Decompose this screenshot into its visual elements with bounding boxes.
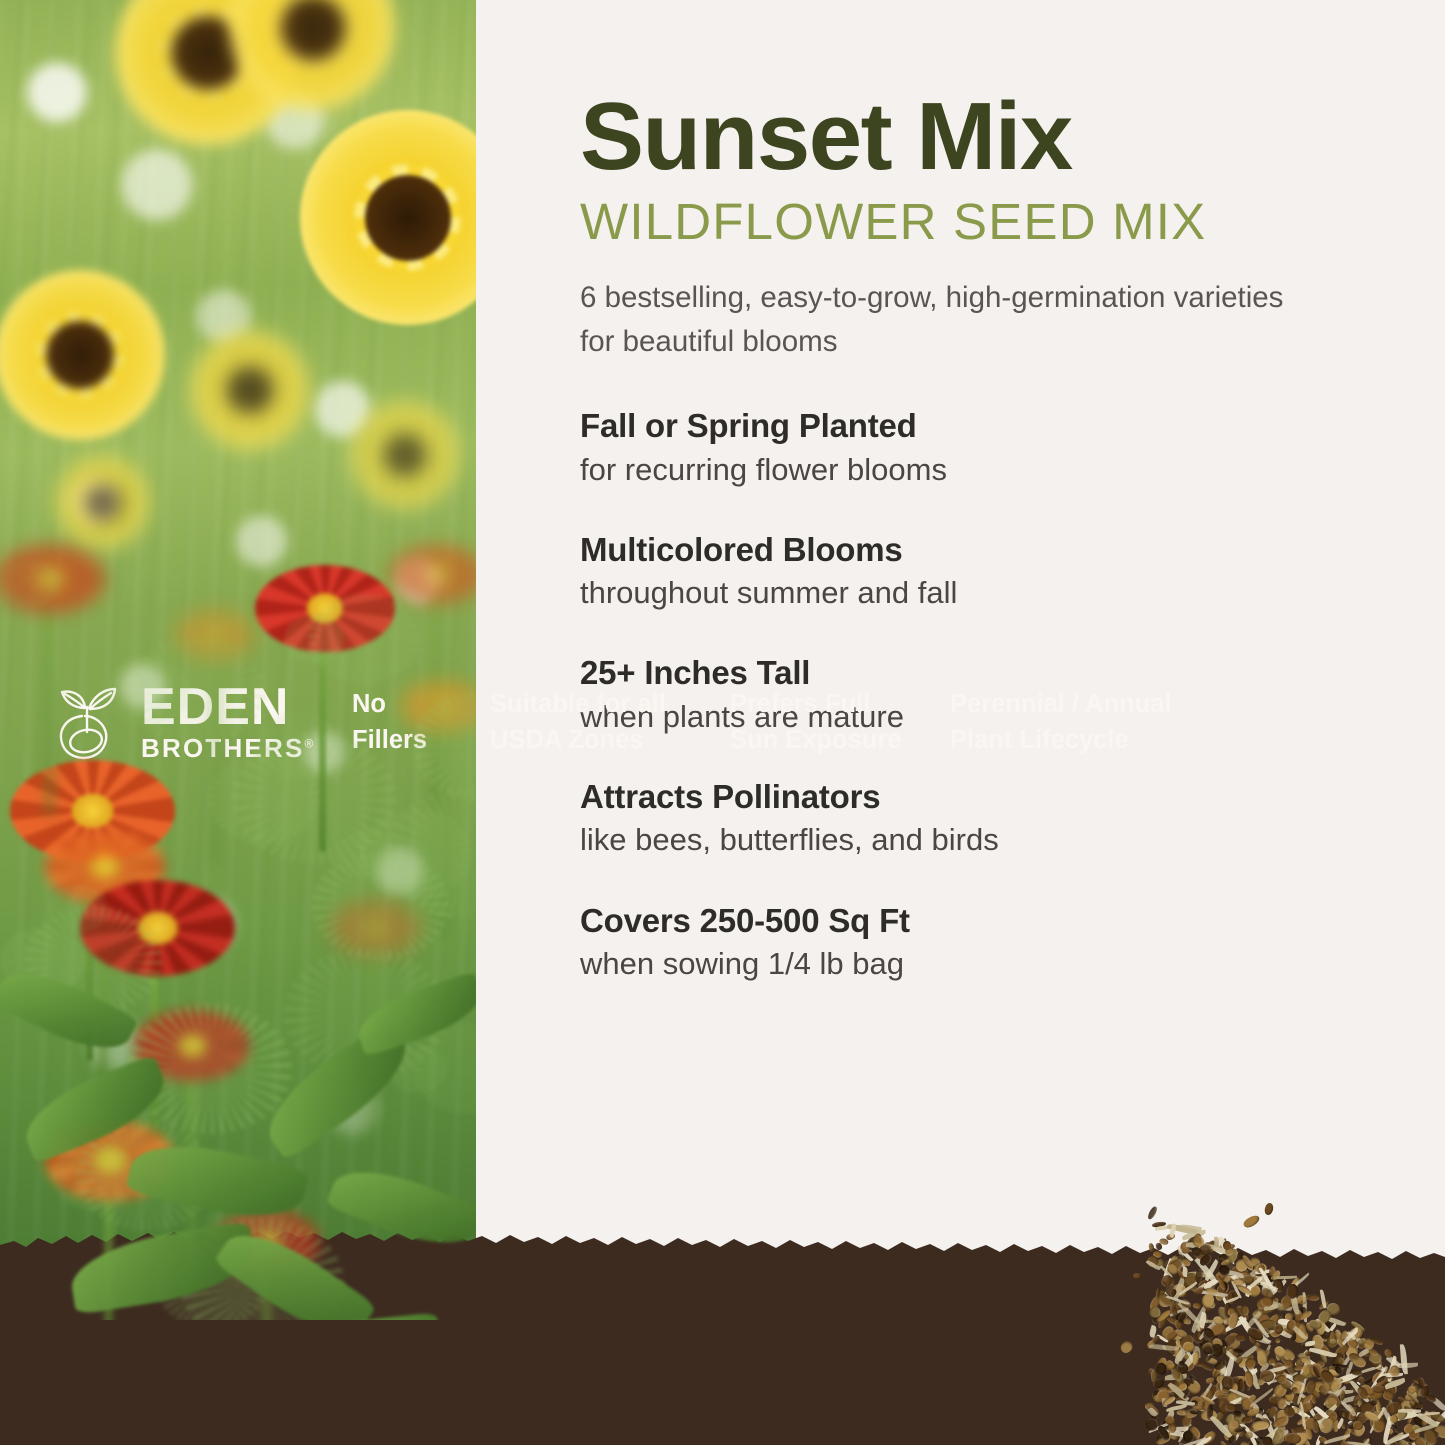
footer-badge-line1: Prefers Full xyxy=(730,687,950,722)
seed-grain xyxy=(1242,1415,1253,1423)
footer-badges: NoFillersSuitable for allUSDA ZonesPrefe… xyxy=(352,687,1210,757)
product-info-card: Sunset Mix WILDFLOWER SEED MIX 6 bestsel… xyxy=(0,0,1445,1445)
footer-badge: Prefers FullSun Exposure xyxy=(730,687,950,757)
seed-grain xyxy=(1274,1337,1281,1344)
seed-grain xyxy=(1192,1303,1200,1309)
seed-grain xyxy=(1372,1385,1386,1393)
flower-stem xyxy=(46,606,53,816)
footer-badge: Perennial / AnnualPlant Lifecycle xyxy=(950,687,1210,757)
seed-grain xyxy=(1291,1387,1297,1394)
seed-grain xyxy=(1147,1205,1158,1220)
cosmos-foliage xyxy=(256,712,342,781)
seed-grain xyxy=(1311,1420,1320,1434)
zinnia-bloom xyxy=(390,545,476,604)
stray-seed xyxy=(1133,1273,1141,1279)
sunflower-bloom xyxy=(350,400,460,510)
seed-grain xyxy=(1234,1334,1247,1342)
cosmos-foliage xyxy=(128,636,266,746)
seed-grain xyxy=(1261,1297,1273,1307)
footer-badge-line1: Suitable for all xyxy=(490,687,730,722)
footer-badge-line1: Perennial / Annual xyxy=(950,687,1210,722)
cosmos-foliage xyxy=(0,560,60,608)
stray-seed xyxy=(1242,1213,1261,1229)
footer-badge-line2: USDA Zones xyxy=(490,723,730,758)
cosmos-foliage xyxy=(48,885,108,933)
seed-grain xyxy=(1277,1375,1287,1384)
stray-seed xyxy=(1264,1202,1275,1216)
seed-grain xyxy=(1149,1242,1156,1252)
stray-seed xyxy=(1118,1339,1134,1355)
footer-badge: Suitable for allUSDA Zones xyxy=(490,687,730,757)
seed-grain xyxy=(1252,1420,1269,1430)
sunflower-bloom xyxy=(55,455,150,550)
sunflower-bloom xyxy=(190,330,310,450)
seed-grain xyxy=(1178,1360,1185,1367)
seed-grain xyxy=(1307,1295,1319,1301)
seed-grain xyxy=(1189,1377,1194,1384)
wildflower-seed-pile xyxy=(1115,1145,1445,1445)
sunflower-bloom xyxy=(0,270,165,440)
seed-chaff xyxy=(1400,1344,1408,1374)
cosmos-foliage xyxy=(308,594,420,684)
footer-badge-line2: Plant Lifecycle xyxy=(950,723,1210,758)
footer-badge-line2: Sun Exposure xyxy=(730,723,950,758)
